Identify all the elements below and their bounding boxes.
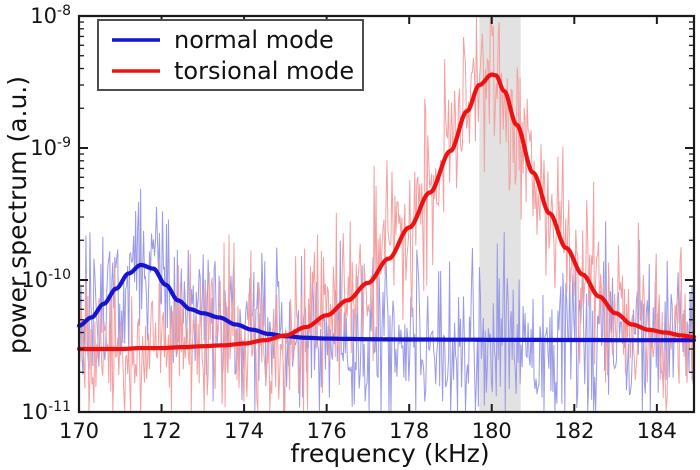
legend-label-normal-mode: normal mode xyxy=(174,26,334,54)
legend-label-torsional-mode: torsional mode xyxy=(174,57,354,85)
y-axis-title: power spectrum (a.u.) xyxy=(3,76,32,354)
x-tick-label-172: 172 xyxy=(142,419,182,443)
x-tick-label-182: 182 xyxy=(554,419,594,443)
x-tick-label-174: 174 xyxy=(224,419,264,443)
x-tick-label-170: 170 xyxy=(59,419,99,443)
x-axis-title: frequency (kHz) xyxy=(290,439,489,468)
figure-root: 17017217417617818018218410-1110-1010-910… xyxy=(0,0,700,470)
power-spectrum-chart: 17017217417617818018218410-1110-1010-910… xyxy=(0,0,700,470)
legend[interactable]: normal modetorsional mode xyxy=(98,20,363,90)
x-tick-label-184: 184 xyxy=(637,419,677,443)
